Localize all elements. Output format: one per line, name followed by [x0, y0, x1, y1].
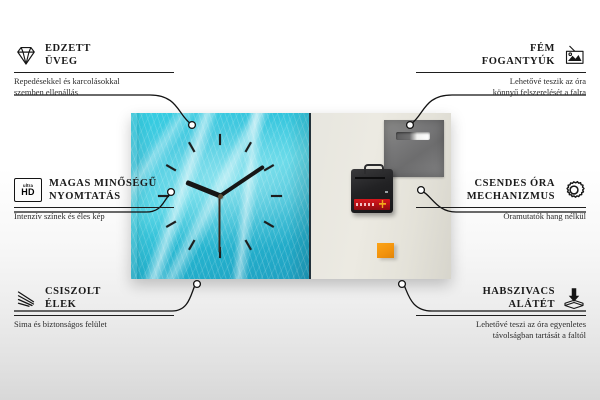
feature-title: FÉM FOGANTYÚK: [482, 42, 555, 69]
feature-foam-spacer[interactable]: HABSZIVACS ALÁTÉT Lehetővé teszi az óra …: [416, 285, 586, 341]
feature-title-line: CSENDES ÓRA: [467, 177, 555, 190]
battery-label: [354, 199, 390, 210]
ultra-hd-icon: ultra HD: [14, 178, 42, 202]
mechanism-slot: [355, 177, 385, 179]
connector-endpoint: [194, 281, 201, 288]
feature-header: FÉM FOGANTYÚK: [416, 42, 586, 69]
feature-rule: [14, 315, 174, 316]
hanger-slot: [396, 132, 430, 140]
feature-title-line: MECHANIZMUS: [467, 190, 555, 203]
feature-rule: [14, 207, 174, 208]
picture-hanger-icon: [562, 43, 586, 67]
feature-title-line: MAGAS MINŐSÉGŰ: [49, 177, 157, 190]
ultra-hd-large-text: HD: [21, 188, 34, 197]
feature-header: HABSZIVACS ALÁTÉT: [416, 285, 586, 312]
feature-high-quality-print[interactable]: ultra HD MAGAS MINŐSÉGŰ NYOMTATÁS Intenz…: [14, 177, 174, 222]
feature-polished-edges[interactable]: CSISZOLT ÉLEK Sima és biztonságos felüle…: [14, 285, 174, 330]
foam-pad-icon: [562, 286, 586, 310]
clock-tick: [166, 195, 221, 228]
product-image: [131, 113, 451, 279]
feature-title: EDZETT ÜVEG: [45, 42, 91, 69]
feature-header: CSISZOLT ÉLEK: [14, 285, 174, 312]
feature-description-line: könnyű felszerelését a falra: [416, 87, 586, 98]
feature-description-line: Óramutatók hang nélkül: [416, 211, 586, 222]
feature-description: Óramutatók hang nélkül: [416, 211, 586, 222]
feature-title-line: FÉM: [482, 42, 555, 55]
feature-title: HABSZIVACS ALÁTÉT: [483, 285, 555, 312]
polished-edges-icon: [14, 286, 38, 310]
feature-title: CSENDES ÓRA MECHANIZMUS: [467, 177, 555, 204]
feature-silent-mechanism[interactable]: CSENDES ÓRA MECHANIZMUS Óramutatók hang …: [416, 177, 586, 222]
clock-tick: [219, 142, 252, 197]
infographic-stage: EDZETT ÜVEG Repedésekkel és karcolásokka…: [0, 0, 600, 400]
feature-description: Repedésekkel és karcolásokkal szemben el…: [14, 76, 174, 99]
feature-description-line: Lehetővé teszik az óra: [416, 76, 586, 87]
feature-title-line: EDZETT: [45, 42, 91, 55]
feature-description-line: szemben ellenállás: [14, 87, 174, 98]
feature-rule: [416, 72, 586, 73]
feature-rule: [416, 207, 586, 208]
mechanism-loop: [364, 164, 384, 174]
feature-description-line: Repedésekkel és karcolásokkal: [14, 76, 174, 87]
feature-title-line: FOGANTYÚK: [482, 55, 555, 68]
feature-description-line: Intenzív színek és éles kép: [14, 211, 174, 222]
feature-header: ultra HD MAGAS MINŐSÉGŰ NYOMTATÁS: [14, 177, 174, 204]
quartz-mechanism-box: [351, 169, 393, 213]
feature-description: Sima és biztonságos felület: [14, 319, 174, 330]
mechanism-dot: [385, 191, 388, 193]
gear-icon: [562, 178, 586, 202]
feature-title-line: NYOMTATÁS: [49, 190, 157, 203]
feature-tempered-glass[interactable]: EDZETT ÜVEG Repedésekkel és karcolásokka…: [14, 42, 174, 98]
feature-title: CSISZOLT ÉLEK: [45, 285, 101, 312]
feature-title-line: CSISZOLT: [45, 285, 101, 298]
feature-title-line: ÉLEK: [45, 298, 101, 311]
metal-hanger-plate: [384, 120, 444, 177]
feature-title-line: ALÁTÉT: [483, 298, 555, 311]
feature-header: EDZETT ÜVEG: [14, 42, 174, 69]
feature-title-line: ÜVEG: [45, 55, 91, 68]
clock-minute-hand: [219, 165, 265, 198]
clock-tick: [219, 134, 221, 196]
feature-description-line: távolságban tartását a faltól: [416, 330, 586, 341]
clock-pivot: [218, 194, 223, 199]
feature-metal-handles[interactable]: FÉM FOGANTYÚK Lehetővé teszik az óra kön…: [416, 42, 586, 98]
feature-description-line: Sima és biztonságos felület: [14, 319, 174, 330]
feature-title: MAGAS MINŐSÉGŰ NYOMTATÁS: [49, 177, 157, 204]
feature-description: Intenzív színek és éles kép: [14, 211, 174, 222]
feature-rule: [14, 72, 174, 73]
feature-description-line: Lehetővé teszi az óra egyenletes: [416, 319, 586, 330]
diamond-icon: [14, 43, 38, 67]
clock-tick: [220, 195, 282, 197]
feature-description: Lehetővé teszik az óra könnyű felszerelé…: [416, 76, 586, 99]
feature-description: Lehetővé teszi az óra egyenletes távolsá…: [416, 319, 586, 342]
feature-header: CSENDES ÓRA MECHANIZMUS: [416, 177, 586, 204]
connector-endpoint: [399, 281, 406, 288]
foam-pad: [377, 243, 394, 258]
feature-rule: [416, 315, 586, 316]
feature-title-line: HABSZIVACS: [483, 285, 555, 298]
